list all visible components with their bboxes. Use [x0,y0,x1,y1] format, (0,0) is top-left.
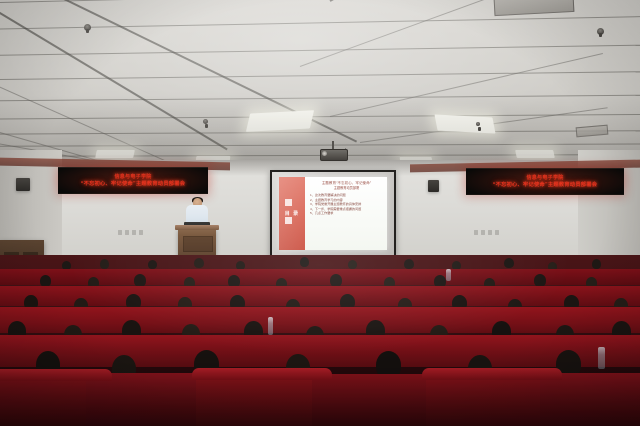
wall-sign-left [118,230,143,235]
attendee-head [504,258,514,268]
led-banner-right: 信息与电子学院 “不忘初心、牢记使命”主题教育动员部署会 [466,168,624,195]
ceiling-panel-light [246,110,314,132]
attendee-head [348,260,357,269]
seat [540,373,640,426]
slide-list-item: 5、几点工作要求 [310,211,383,216]
ceiling-panel-light [515,150,555,158]
projector-lens [322,151,327,156]
audience-seating [0,255,640,426]
sprinkler-head [476,122,480,126]
seat [422,368,562,380]
led-banner-right-line2: “不忘初心、牢记使命”主题教育动员部署会 [493,182,598,189]
attendee-head [148,260,157,269]
seat [0,286,640,306]
slide-subtitle: 主题教育动员部署 [310,186,383,191]
led-banner-left: 信息与电子学院 “不忘初心、牢记使命”主题教育动员部署会 [58,167,208,194]
slide-sidebar: 目 录 [279,177,305,250]
sprinkler-head [597,28,604,35]
attendee-head [100,259,109,269]
slide-sidebar-label: 目 录 [285,211,299,217]
water-bottle [598,347,605,369]
sprinkler-head [84,24,91,31]
seat [312,374,444,426]
led-banner-left-line2: “不忘初心、牢记使命”主题教育动员部署会 [81,181,186,188]
attendee-head [592,259,601,269]
projection-screen: 目 录 主题教育“不忘初心、牢记使命” 主题教育动员部署 1、这次教育要解决的问… [270,170,396,258]
wall-speaker-left [16,178,30,191]
wall-speaker-right [428,180,439,192]
led-banner-right-line1: 信息与电子学院 [526,175,563,182]
water-bottle [446,269,451,281]
seat [192,368,332,380]
ceiling-vent [494,0,575,16]
ceiling [0,0,640,172]
water-bottle [268,317,273,335]
ceiling-vent [576,125,609,138]
ceiling-panel-light [95,150,135,158]
ceiling-panel-light [434,114,495,133]
seat [0,335,640,367]
attendee-head [404,259,414,269]
seat [0,369,112,381]
led-banner-left-line1: 信息与电子学院 [114,174,151,181]
conference-hall-photo: 信息与电子学院 “不忘初心、牢记使命”主题教育动员部署会 信息与电子学院 “不忘… [0,0,640,426]
wall-sign-right [474,230,499,235]
slide-content: 主题教育“不忘初心、牢记使命” 主题教育动员部署 1、这次教育要解决的问题 2、… [305,177,387,250]
sprinkler-head [203,119,208,124]
presentation-slide: 目 录 主题教育“不忘初心、牢记使命” 主题教育动员部署 1、这次教育要解决的问… [279,177,387,250]
attendee-head [194,258,204,268]
attendee-head [300,257,309,267]
